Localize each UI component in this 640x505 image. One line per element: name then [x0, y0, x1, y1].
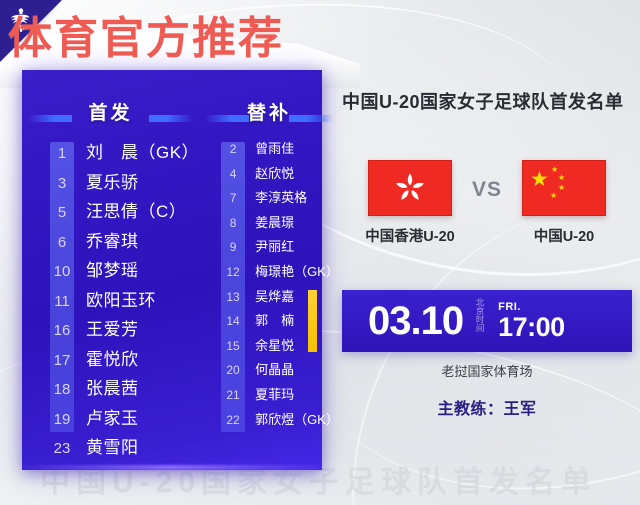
player-number: 9: [221, 240, 245, 254]
list-item: 4赵欣悦: [199, 163, 339, 188]
home-team: 中国香港U-20: [354, 160, 466, 246]
matchup-block: 中国香港U-20 VS ★ ★ ★ ★ ★ 中国U-20: [342, 160, 632, 246]
player-number: 6: [50, 234, 74, 251]
hong-kong-flag-icon: [368, 160, 452, 216]
header-bar-left: [205, 115, 249, 122]
bauhinia-flower-icon: [392, 170, 428, 206]
substitutes-list: 2曾雨佳 4赵欣悦 7李淳英格 8姜晨璟 9尹丽红 12梅璟艳（GK） 13吴烨…: [199, 138, 339, 433]
list-item: 15余星悦: [199, 335, 339, 360]
away-team-name: 中国U-20: [508, 225, 620, 246]
player-number: 14: [221, 314, 245, 328]
list-item: 1刘 晨（GK）: [22, 138, 199, 168]
player-number: 5: [50, 204, 74, 221]
player-number: 17: [50, 352, 74, 369]
player-number: 18: [50, 381, 74, 398]
substitutes-column: 替补 2曾雨佳 4赵欣悦 7李淳英格 8姜晨璟 9尹丽红 12梅璟艳（GK） 1…: [199, 70, 339, 470]
flag-star-small: ★: [558, 174, 565, 182]
player-name: 尹丽红: [255, 236, 294, 255]
timezone-label: 北京时间: [474, 298, 485, 344]
kickoff-time-block: FRI. 17:00: [498, 301, 565, 341]
home-team-name: 中国香港U-20: [354, 225, 466, 246]
substitutes-heading-label: 替补: [247, 98, 291, 125]
player-name: 欧阳玉环: [86, 286, 156, 311]
player-name: 霍悦欣: [86, 345, 139, 370]
kickoff-bar: 03.10 北京时间 FRI. 17:00: [342, 290, 632, 352]
list-item: 23黄雪阳: [22, 433, 199, 463]
player-name: 夏乐骄: [86, 168, 139, 193]
list-item: 14郭 楠: [199, 310, 339, 335]
player-name: 郭欣煜（GK）: [255, 409, 339, 428]
list-item: 3夏乐骄: [22, 168, 199, 198]
header-bar-left: [28, 115, 72, 122]
list-item: 21夏菲玛: [199, 384, 339, 409]
list-item: 6乔睿琪: [22, 227, 199, 257]
player-number: 7: [221, 191, 245, 205]
kickoff-bar-wrapper: 03.10 北京时间 FRI. 17:00: [342, 290, 632, 352]
away-team: ★ ★ ★ ★ ★ 中国U-20: [508, 160, 620, 246]
player-name: 赵欣悦: [255, 163, 294, 182]
player-number: 1: [50, 145, 74, 162]
player-name: 李淳英格: [255, 187, 307, 206]
player-number: 11: [50, 293, 74, 310]
player-name: 卢家玉: [86, 404, 139, 429]
player-number: 16: [50, 322, 74, 339]
list-item: 18张晨茜: [22, 374, 199, 404]
player-number: 20: [221, 363, 245, 377]
list-item: 22郭欣煜（GK）: [199, 409, 339, 434]
player-name: 邹梦瑶: [86, 256, 139, 281]
player-number: 3: [50, 175, 74, 192]
match-date: 03.10: [368, 301, 463, 341]
player-name: 梅璟艳（GK）: [255, 261, 339, 280]
player-number: 15: [221, 339, 245, 353]
player-name: 何晶晶: [255, 359, 294, 378]
kickoff-time: 17:00: [498, 314, 565, 341]
starters-header: 首发: [22, 96, 199, 126]
player-name: 郭 楠: [255, 310, 294, 329]
player-name: 夏菲玛: [255, 384, 294, 403]
coach-label: 主教练：王军: [342, 395, 632, 419]
starters-column: 首发 1刘 晨（GK） 3夏乐骄 5汪思倩（C） 6乔睿琪 10邹梦瑶 11欧阳…: [22, 70, 199, 470]
list-item: 7李淳英格: [199, 187, 339, 212]
player-name: 张晨茜: [86, 374, 139, 399]
substitutes-header: 替补: [199, 96, 339, 126]
player-name: 刘 晨（GK）: [86, 138, 199, 163]
list-item: 8姜晨璟: [199, 212, 339, 237]
flag-star-small: ★: [558, 184, 565, 192]
player-number: 19: [50, 411, 74, 428]
header-bar-right: [149, 115, 193, 122]
player-number: 12: [221, 265, 245, 279]
list-item: 12梅璟艳（GK）: [199, 261, 339, 286]
starters-heading-label: 首发: [89, 98, 133, 125]
player-name: 黄雪阳: [86, 433, 139, 458]
page-title: 中国U-20国家女子足球队首发名单: [342, 88, 624, 114]
lineup-graphic: 中国U-20国家女子足球队首发名单 体育官方推荐 首发: [0, 0, 640, 505]
brand-header-text: 体育官方推荐: [8, 2, 284, 66]
player-number: 23: [50, 440, 74, 457]
flag-star-large: ★: [530, 169, 549, 190]
header-bar-right: [289, 115, 333, 122]
player-name: 王爱芳: [86, 315, 139, 340]
player-name: 乔睿琪: [86, 227, 139, 252]
player-number: 2: [221, 142, 245, 156]
list-item: 9尹丽红: [199, 236, 339, 261]
flag-star-small: ★: [550, 192, 557, 200]
player-number: 21: [221, 388, 245, 402]
list-item: 10邹梦瑶: [22, 256, 199, 286]
player-number: 4: [221, 167, 245, 181]
venue-label: 老挝国家体育场: [342, 361, 632, 380]
player-number: 10: [50, 263, 74, 280]
player-name: 余星悦: [255, 335, 294, 354]
roster-panel: 首发 1刘 晨（GK） 3夏乐骄 5汪思倩（C） 6乔睿琪 10邹梦瑶 11欧阳…: [22, 70, 322, 470]
china-flag-icon: ★ ★ ★ ★ ★: [522, 160, 606, 216]
vs-label: VS: [472, 160, 502, 202]
player-number: 13: [221, 290, 245, 304]
player-number: 22: [221, 413, 245, 427]
player-name: 曾雨佳: [255, 138, 294, 157]
starters-list: 1刘 晨（GK） 3夏乐骄 5汪思倩（C） 6乔睿琪 10邹梦瑶 11欧阳玉环 …: [22, 138, 199, 463]
player-name: 姜晨璟: [255, 212, 294, 231]
player-number: 8: [221, 216, 245, 230]
list-item: 13吴烨嘉: [199, 286, 339, 311]
list-item: 11欧阳玉环: [22, 286, 199, 316]
player-name: 吴烨嘉: [255, 286, 294, 305]
list-item: 20何晶晶: [199, 359, 339, 384]
list-item: 2曾雨佳: [199, 138, 339, 163]
list-item: 19卢家玉: [22, 404, 199, 434]
yellow-accent-bar: [308, 290, 317, 352]
list-item: 17霍悦欣: [22, 345, 199, 375]
list-item: 16王爱芳: [22, 315, 199, 345]
player-name: 汪思倩（C）: [86, 197, 186, 222]
list-item: 5汪思倩（C）: [22, 197, 199, 227]
